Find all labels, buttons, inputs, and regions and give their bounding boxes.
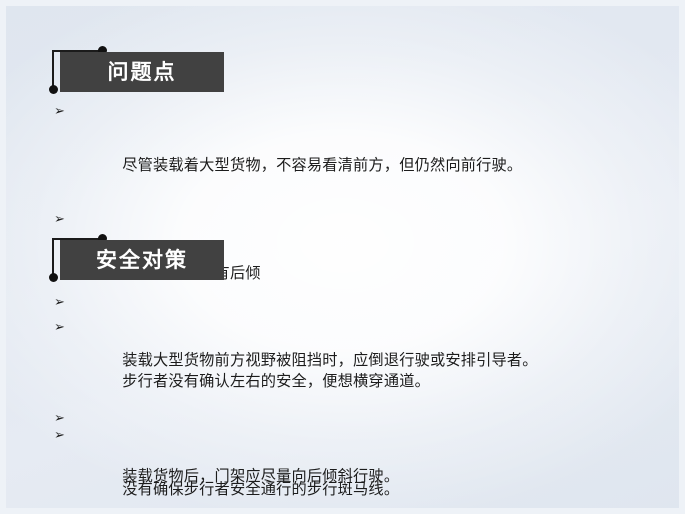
list-item: ➢ 装载货物后，门架应尽量向后倾斜行驶。 xyxy=(52,404,672,514)
section-heading-safety-measures: 安全对策 xyxy=(0,228,685,280)
bracket-dot-bottom-left-icon xyxy=(49,273,58,282)
title-box-problems: 问题点 xyxy=(60,52,224,92)
arrow-bullet-icon: ➢ xyxy=(54,404,65,433)
section-safety-measures: 安全对策 ➢ 装载大型货物前方视野被阻挡时，应倒退行驶或安排引导者。 ➢ 装载货… xyxy=(0,228,685,280)
bracket-vertical-line xyxy=(52,50,54,90)
section-problems: 问题点 ➢ 尽管装载着大型货物，不容易看清前方，但仍然向前行驶。 ➢ 行驶时门架… xyxy=(0,40,685,92)
slide-canvas: 问题点 ➢ 尽管装载着大型货物，不容易看清前方，但仍然向前行驶。 ➢ 行驶时门架… xyxy=(0,0,685,514)
bullet-list-safety-measures: ➢ 装载大型货物前方视野被阻挡时，应倒退行驶或安排引导者。 ➢ 装载货物后，门架… xyxy=(52,288,672,514)
title-label-safety-measures: 安全对策 xyxy=(96,250,188,271)
list-item: ➢ 尽管装载着大型货物，不容易看清前方，但仍然向前行驶。 xyxy=(52,98,672,206)
section-heading-problems: 问题点 xyxy=(0,40,685,92)
bracket-dot-bottom-left-icon xyxy=(49,85,58,94)
list-item-text: 装载大型货物前方视野被阻挡时，应倒退行驶或安排引导者。 xyxy=(122,351,537,369)
arrow-bullet-icon: ➢ xyxy=(54,98,65,125)
list-item-text: 装载货物后，门架应尽量向后倾斜行驶。 xyxy=(122,467,399,485)
title-label-problems: 问题点 xyxy=(108,62,177,83)
bracket-vertical-line xyxy=(52,238,54,278)
list-item: ➢ 装载大型货物前方视野被阻挡时，应倒退行驶或安排引导者。 xyxy=(52,288,672,404)
arrow-bullet-icon: ➢ xyxy=(54,288,65,317)
title-box-safety-measures: 安全对策 xyxy=(60,240,224,280)
list-item-text: 尽管装载着大型货物，不容易看清前方，但仍然向前行驶。 xyxy=(122,156,522,174)
